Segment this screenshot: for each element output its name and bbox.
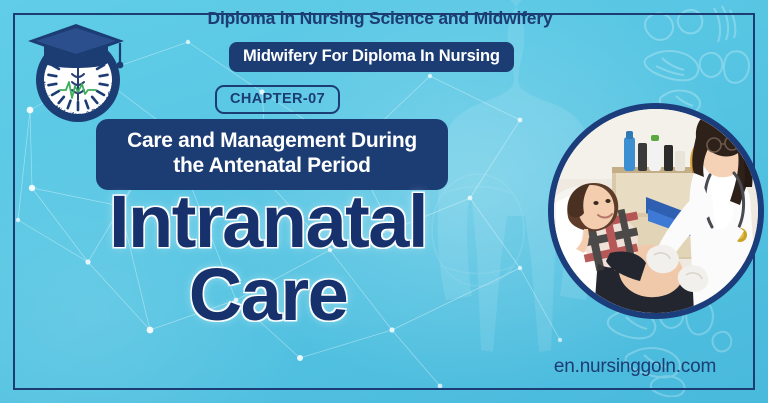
- topic-line-1: Care and Management During: [127, 129, 417, 152]
- topic-line-2: the Antenatal Period: [173, 154, 370, 177]
- website-url: en.nursinggoln.com: [520, 356, 750, 378]
- subtitle-pill: Midwifery For Diploma In Nursing: [229, 42, 514, 72]
- course-banner: Gurukul Nursing, Midwifery & Patient Car…: [0, 0, 768, 403]
- kicker-text: Diploma in Nursing Science and Midwifery: [170, 8, 590, 29]
- chapter-badge: CHAPTER-07: [215, 85, 340, 114]
- title-line-2: Care: [28, 259, 508, 332]
- hero-photo: [548, 103, 764, 319]
- page-title: Intranatal Care: [28, 186, 508, 331]
- topic-box: Care and Management During the Antenatal…: [96, 119, 448, 190]
- midwife-examining-pregnant-woman-illustration: [554, 109, 758, 313]
- title-line-1: Intranatal: [109, 180, 427, 263]
- gurukul-nursing-logo: Gurukul Nursing, Midwifery & Patient Car…: [22, 22, 130, 130]
